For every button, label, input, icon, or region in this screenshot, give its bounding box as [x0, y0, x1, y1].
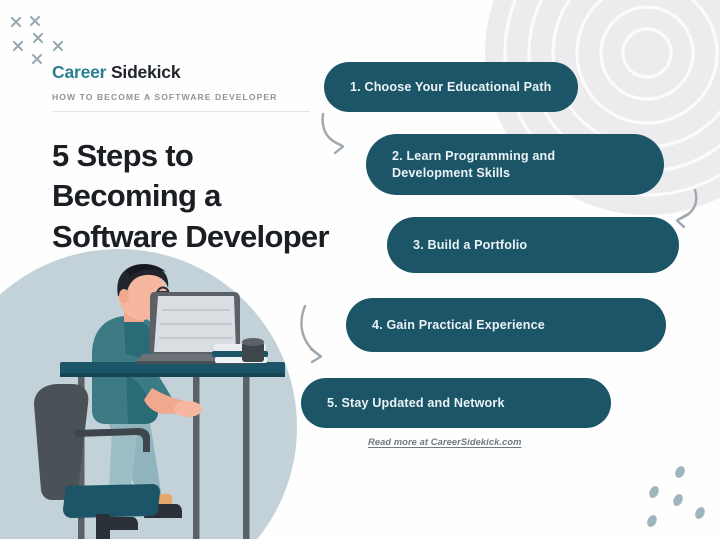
infographic-canvas: Career Sidekick HOW TO BECOME A SOFTWARE… — [0, 0, 720, 539]
step-pill-2[interactable]: 2. Learn Programming and Development Ski… — [366, 134, 664, 195]
step-pill-5[interactable]: 5. Stay Updated and Network — [301, 378, 611, 428]
logo-word-sidekick: Sidekick — [111, 62, 180, 82]
kicker-subtitle: HOW TO BECOME A SOFTWARE DEVELOPER — [52, 92, 310, 102]
x-marks-decoration — [4, 6, 90, 68]
brand-divider — [52, 111, 310, 112]
step-label-4: 4. Gain Practical Experience — [346, 317, 567, 334]
headline-line-2: Becoming a — [52, 176, 392, 216]
step-label-1: 1. Choose Your Educational Path — [324, 79, 574, 96]
desk — [60, 362, 285, 377]
step-label-3: 3. Build a Portfolio — [387, 237, 549, 254]
step-pill-1[interactable]: 1. Choose Your Educational Path — [324, 62, 578, 112]
step-label-2: 2. Learn Programming and Development Ski… — [366, 148, 577, 182]
read-more-link[interactable]: Read more at CareerSidekick.com — [368, 437, 521, 447]
illustration-person-working-at-desk — [0, 262, 300, 539]
headline-line-1: 5 Steps to — [52, 136, 392, 176]
dot-cluster-decoration — [634, 459, 714, 531]
step-label-2-line-2: Development Skills — [392, 165, 555, 182]
step-pill-3[interactable]: 3. Build a Portfolio — [387, 217, 679, 273]
logo-word-career: Career — [52, 62, 106, 82]
step-label-5: 5. Stay Updated and Network — [301, 395, 527, 412]
brand-block: Career Sidekick HOW TO BECOME A SOFTWARE… — [52, 64, 310, 112]
logo[interactable]: Career Sidekick — [52, 64, 310, 82]
step-label-2-line-1: 2. Learn Programming and — [392, 148, 555, 165]
page-title: 5 Steps to Becoming a Software Developer — [52, 136, 392, 257]
step-pill-4[interactable]: 4. Gain Practical Experience — [346, 298, 666, 352]
headline-line-3: Software Developer — [52, 217, 392, 257]
